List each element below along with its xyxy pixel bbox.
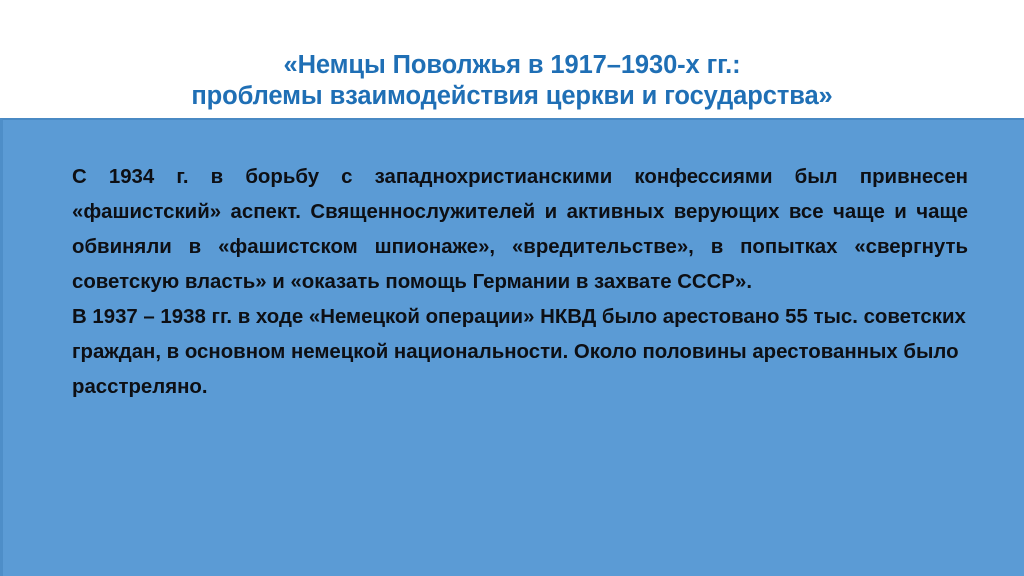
slide-header: «Немцы Поволжья в 1917–1930-х гг.: пробл… [0, 0, 1024, 118]
slide-title-line-1: «Немцы Поволжья в 1917–1930-х гг.: [284, 50, 741, 81]
slide-content-panel: С 1934 г. в борьбу с западнохристианским… [0, 118, 1024, 576]
presentation-slide: «Немцы Поволжья в 1917–1930-х гг.: пробл… [0, 0, 1024, 576]
body-paragraph-1: С 1934 г. в борьбу с западнохристианским… [72, 160, 968, 300]
slide-title-line-2: проблемы взаимодействия церкви и государ… [191, 81, 832, 112]
body-paragraph-2: В 1937 – 1938 гг. в ходе «Немецкой опера… [72, 300, 968, 405]
slide-body-text: С 1934 г. в борьбу с западнохристианским… [72, 160, 968, 405]
